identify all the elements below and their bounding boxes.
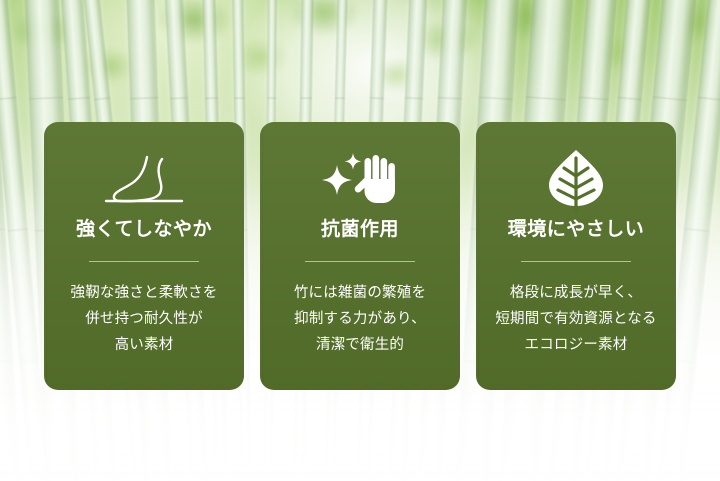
- card-divider: [89, 261, 199, 262]
- foot-icon: [102, 144, 186, 218]
- card-title: 強くてしなやか: [76, 220, 212, 239]
- card-body: 竹には雑菌の繁殖を 抑制する力があり、 清潔で衛生的: [294, 280, 426, 358]
- feature-card-list: 強くてしなやか 強靭な強さと柔軟さを 併せ持つ耐久性が 高い素材: [44, 122, 676, 390]
- feature-card-durability[interactable]: 強くてしなやか 強靭な強さと柔軟さを 併せ持つ耐久性が 高い素材: [44, 122, 244, 390]
- card-divider: [305, 261, 415, 262]
- card-body: 強靭な強さと柔軟さを 併せ持つ耐久性が 高い素材: [71, 280, 218, 358]
- feature-card-antibacterial[interactable]: 抗菌作用 竹には雑菌の繁殖を 抑制する力があり、 清潔で衛生的: [260, 122, 460, 390]
- sparkle-hand-icon: [318, 144, 402, 218]
- card-title: 抗菌作用: [321, 220, 399, 239]
- card-title: 環境にやさしい: [508, 220, 645, 239]
- feature-card-eco[interactable]: 環境にやさしい 格段に成長が早く、 短期間で有効資源となる エコロジー素材: [476, 122, 676, 390]
- card-body: 格段に成長が早く、 短期間で有効資源となる エコロジー素材: [495, 280, 656, 358]
- feature-section: 強くてしなやか 強靭な強さと柔軟さを 併せ持つ耐久性が 高い素材: [0, 0, 720, 481]
- leaf-icon: [541, 144, 611, 218]
- card-divider: [521, 261, 631, 262]
